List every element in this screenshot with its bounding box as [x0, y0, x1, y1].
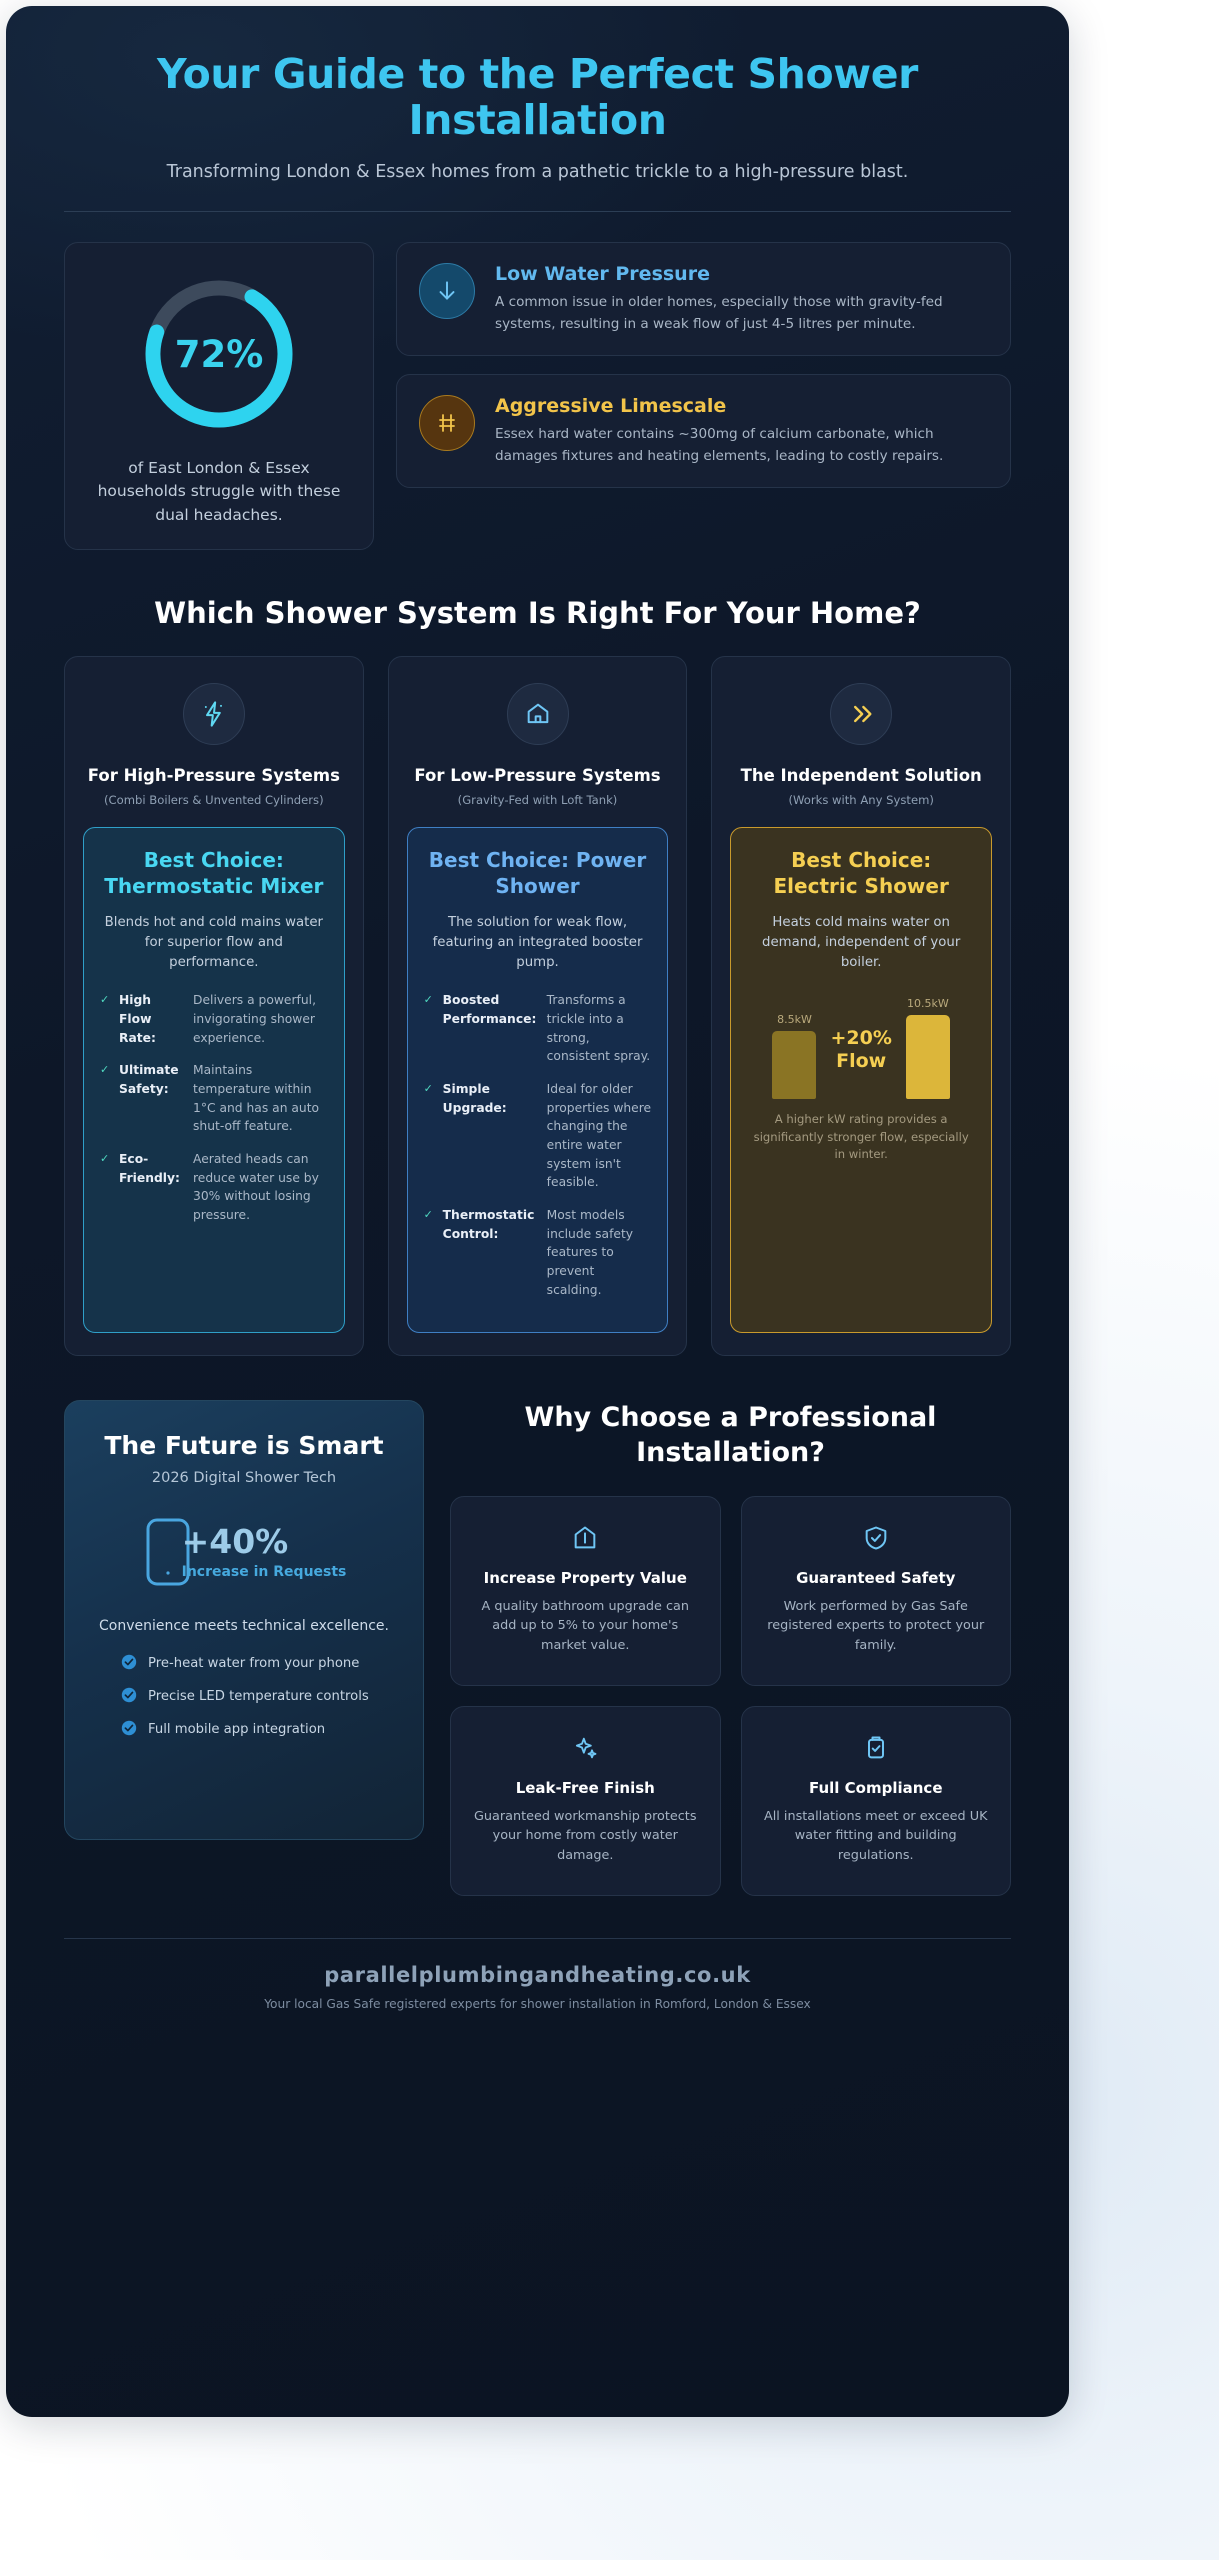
property-value-icon [471, 1523, 700, 1553]
feature-value: Aerated heads can reduce water use by 30… [193, 1150, 328, 1225]
feature-key: High Flow Rate: [119, 991, 185, 1047]
donut-value: 72% [136, 271, 302, 437]
limescale-icon [419, 395, 475, 451]
check-icon: ✓ [424, 991, 435, 1066]
smart-tagline: Convenience meets technical excellence. [91, 1618, 397, 1634]
header-divider [64, 211, 1011, 212]
footer: parallelplumbingandheating.co.uk Your lo… [64, 1938, 1011, 2041]
why-grid: Increase Property Value A quality bathro… [450, 1496, 1011, 1896]
why-card-guaranteed-safety: Guaranteed Safety Work performed by Gas … [741, 1496, 1012, 1686]
infographic-poster: Your Guide to the Perfect Shower Install… [6, 6, 1069, 2417]
why-card-title: Full Compliance [762, 1779, 991, 1797]
bottom-section: The Future is Smart 2026 Digital Shower … [64, 1400, 1011, 1896]
why-card-title: Increase Property Value [471, 1569, 700, 1587]
chart-annotation: +20% Flow [830, 1027, 891, 1099]
home-icon [507, 683, 569, 745]
best-choice-panel: Best Choice: Power Shower The solution f… [407, 827, 669, 1332]
feature-value: Transforms a trickle into a strong, cons… [547, 991, 652, 1066]
smart-tech-card: The Future is Smart 2026 Digital Shower … [64, 1400, 424, 1840]
problem-card-aggressive-limescale: Aggressive Limescale Essex hard water co… [396, 374, 1011, 488]
problem-body: Essex hard water contains ~300mg of calc… [495, 424, 988, 467]
systems-heading: Which Shower System Is Right For Your Ho… [64, 596, 1011, 630]
footer-tagline: Your local Gas Safe registered experts f… [64, 1997, 1011, 2011]
bar-high [906, 1015, 950, 1099]
feature-key: Boosted Performance: [443, 991, 539, 1066]
feature-key: Ultimate Safety: [119, 1061, 185, 1136]
best-choice-panel: Best Choice: Thermostatic Mixer Blends h… [83, 827, 345, 1332]
clipboard-check-icon [762, 1733, 991, 1763]
feature-list: ✓ Boosted Performance: Transforms a tric… [424, 991, 652, 1299]
why-card-leak-free-finish: Leak-Free Finish Guaranteed workmanship … [450, 1706, 721, 1896]
why-card-body: All installations meet or exceed UK wate… [762, 1807, 991, 1865]
problem-title: Low Water Pressure [495, 263, 988, 285]
why-card-title: Leak-Free Finish [471, 1779, 700, 1797]
smart-title: The Future is Smart [91, 1431, 397, 1460]
feature-item: ✓ Boosted Performance: Transforms a tric… [424, 991, 652, 1066]
feature-item: ✓ Simple Upgrade: Ideal for older proper… [424, 1080, 652, 1192]
list-item: Pre-heat water from your phone [121, 1654, 397, 1674]
system-subtitle: (Combi Boilers & Unvented Cylinders) [83, 793, 345, 807]
feature-key: Simple Upgrade: [443, 1080, 539, 1192]
best-choice-lead: Blends hot and cold mains water for supe… [100, 913, 328, 973]
check-icon: ✓ [424, 1080, 435, 1192]
problem-title: Aggressive Limescale [495, 395, 988, 417]
donut-chart: 72% [136, 271, 302, 437]
page-subtitle: Transforming London & Essex homes from a… [64, 160, 1011, 185]
list-item: Precise LED temperature controls [121, 1687, 397, 1707]
smart-stat-text: +40% Increase in Requests [182, 1525, 347, 1582]
feature-value: Most models include safety features to p… [547, 1206, 652, 1299]
problem-card-low-water-pressure: Low Water Pressure A common issue in old… [396, 242, 1011, 356]
system-title: The Independent Solution [730, 765, 992, 787]
smart-subtitle: 2026 Digital Shower Tech [91, 1470, 397, 1486]
why-section: Why Choose a Professional Installation? … [450, 1400, 1011, 1896]
sparkles-icon [471, 1733, 700, 1763]
best-choice-panel: Best Choice: Electric Shower Heats cold … [730, 827, 992, 1332]
system-card-independent: The Independent Solution (Works with Any… [711, 656, 1011, 1356]
feature-value: Ideal for older properties where changin… [547, 1080, 652, 1192]
kw-bar-chart: 8.5kW +20% Flow 10.5kW [747, 989, 975, 1099]
why-card-body: A quality bathroom upgrade can add up to… [471, 1597, 700, 1655]
system-card-low-pressure: For Low-Pressure Systems (Gravity-Fed wi… [388, 656, 688, 1356]
smart-stat-caption: Increase in Requests [182, 1564, 347, 1582]
list-item-label: Precise LED temperature controls [148, 1689, 369, 1704]
system-title: For Low-Pressure Systems [407, 765, 669, 787]
footer-site: parallelplumbingandheating.co.uk [64, 1963, 1011, 1987]
feature-list: ✓ High Flow Rate: Delivers a powerful, i… [100, 991, 328, 1225]
stat-card: 72% of East London & Essex households st… [64, 242, 374, 550]
double-chevron-right-icon [830, 683, 892, 745]
bar-group-low: 8.5kW [772, 989, 816, 1099]
feature-key: Eco-Friendly: [119, 1150, 185, 1225]
why-card-body: Guaranteed workmanship protects your hom… [471, 1807, 700, 1865]
systems-grid: For High-Pressure Systems (Combi Boilers… [64, 656, 1011, 1356]
problem-body: A common issue in older homes, especiall… [495, 292, 988, 335]
feature-value: Maintains temperature within 1°C and has… [193, 1061, 328, 1136]
problems-section: 72% of East London & Essex households st… [64, 242, 1011, 550]
why-card-body: Work performed by Gas Safe registered ex… [762, 1597, 991, 1655]
feature-key: Thermostatic Control: [443, 1206, 539, 1299]
best-choice-title: Best Choice: Power Shower [424, 848, 652, 899]
feature-item: ✓ Ultimate Safety: Maintains temperature… [100, 1061, 328, 1136]
bar-group-high: 10.5kW [906, 989, 950, 1099]
shield-check-icon [762, 1523, 991, 1553]
feature-item: ✓ Eco-Friendly: Aerated heads can reduce… [100, 1150, 328, 1225]
system-title: For High-Pressure Systems [83, 765, 345, 787]
why-card-property-value: Increase Property Value A quality bathro… [450, 1496, 721, 1686]
stat-caption: of East London & Essex households strugg… [83, 457, 355, 527]
annotation-line-1: +20% [830, 1027, 891, 1050]
check-circle-icon [121, 1687, 137, 1707]
best-choice-title: Best Choice: Electric Shower [747, 848, 975, 899]
list-item: Full mobile app integration [121, 1720, 397, 1740]
chart-note: A higher kW rating provides a significan… [747, 1111, 975, 1163]
smart-stat: +40% Increase in Requests [91, 1516, 397, 1592]
check-circle-icon [121, 1720, 137, 1740]
arrow-down-icon [419, 263, 475, 319]
best-choice-lead: Heats cold mains water on demand, indepe… [747, 913, 975, 973]
check-icon: ✓ [100, 991, 111, 1047]
page-title: Your Guide to the Perfect Shower Install… [64, 52, 1011, 144]
smart-stat-value: +40% [182, 1525, 347, 1558]
feature-value: Delivers a powerful, invigorating shower… [193, 991, 328, 1047]
list-item-label: Pre-heat water from your phone [148, 1656, 359, 1671]
system-subtitle: (Gravity-Fed with Loft Tank) [407, 793, 669, 807]
why-card-full-compliance: Full Compliance All installations meet o… [741, 1706, 1012, 1896]
bar-label: 8.5kW [777, 1013, 812, 1026]
list-item-label: Full mobile app integration [148, 1722, 325, 1737]
bar-low [772, 1031, 816, 1099]
why-heading: Why Choose a Professional Installation? [450, 1400, 1011, 1470]
feature-item: ✓ Thermostatic Control: Most models incl… [424, 1206, 652, 1299]
best-choice-title: Best Choice: Thermostatic Mixer [100, 848, 328, 899]
check-icon: ✓ [100, 1061, 111, 1136]
why-card-title: Guaranteed Safety [762, 1569, 991, 1587]
feature-item: ✓ High Flow Rate: Delivers a powerful, i… [100, 991, 328, 1047]
smart-bullet-list: Pre-heat water from your phone Precise L… [91, 1654, 397, 1740]
system-card-high-pressure: For High-Pressure Systems (Combi Boilers… [64, 656, 364, 1356]
system-subtitle: (Works with Any System) [730, 793, 992, 807]
bar-label: 10.5kW [907, 997, 949, 1010]
check-icon: ✓ [424, 1206, 435, 1299]
header: Your Guide to the Perfect Shower Install… [64, 6, 1011, 185]
check-icon: ✓ [100, 1150, 111, 1225]
problem-list: Low Water Pressure A common issue in old… [396, 242, 1011, 550]
annotation-line-2: Flow [836, 1050, 886, 1073]
check-circle-icon [121, 1654, 137, 1674]
lightning-bolt-icon [183, 683, 245, 745]
best-choice-lead: The solution for weak flow, featuring an… [424, 913, 652, 973]
